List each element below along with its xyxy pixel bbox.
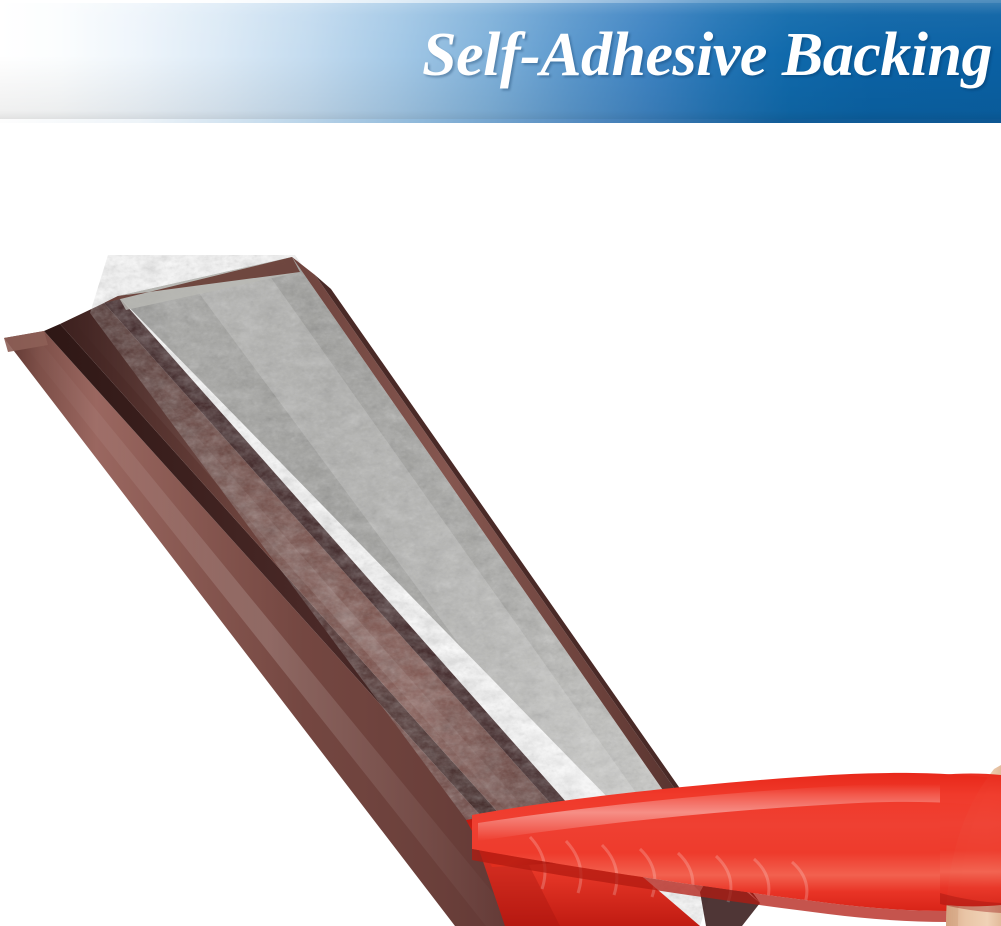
banner-top-highlight	[0, 0, 1001, 3]
header-banner: Self-Adhesive Backing	[0, 0, 1001, 123]
product-feature-image: Self-Adhesive Backing The flexible floor…	[0, 0, 1001, 926]
product-photo-illustration	[0, 123, 1001, 926]
page-title: Self-Adhesive Backing	[300, 18, 992, 92]
red-release-liner-over-finger	[940, 774, 1001, 907]
product-photo	[0, 123, 1001, 926]
